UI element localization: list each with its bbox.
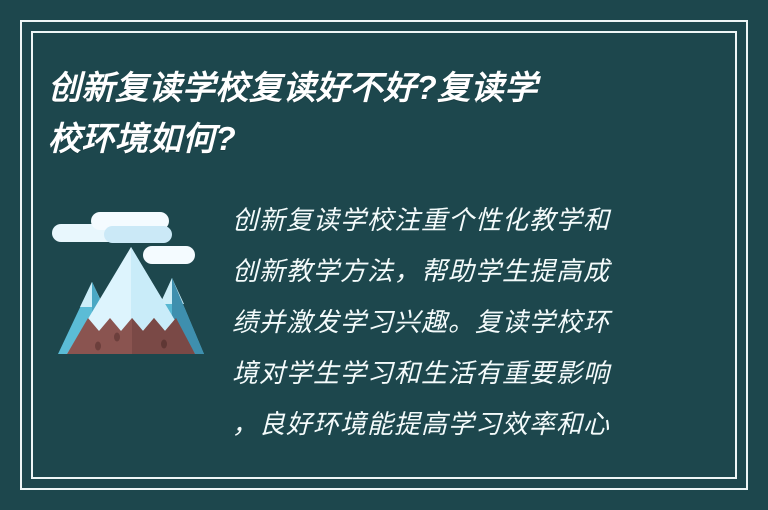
rock-dot <box>95 342 101 351</box>
poster-body-text: 创新复读学校注重个性化教学和 创新教学方法，帮助学生提高成 绩并激发学习兴趣。复… <box>232 196 720 451</box>
poster-content-row: 创新复读学校注重个性化教学和 创新教学方法，帮助学生提高成 绩并激发学习兴趣。复… <box>48 196 720 468</box>
poster-canvas: 创新复读学校复读好不好?复读学 校环境如何? <box>0 0 768 510</box>
cloud-icon <box>52 212 195 264</box>
mountain-illustration <box>48 204 212 384</box>
poster-title: 创新复读学校复读好不好?复读学 校环境如何? <box>48 62 698 164</box>
rock-dot <box>161 340 167 349</box>
rock-dot <box>114 333 120 342</box>
